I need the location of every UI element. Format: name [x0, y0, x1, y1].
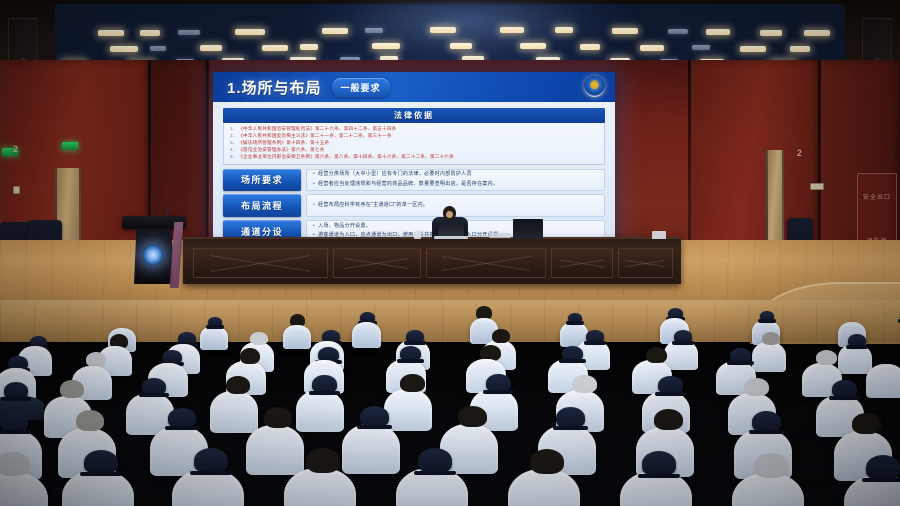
attendee-head [646, 347, 667, 363]
attendee-cap [0, 412, 28, 432]
seat [866, 364, 900, 398]
attendee-head [530, 449, 564, 474]
attendee-head [306, 448, 340, 473]
attendee-head [492, 329, 510, 343]
attendee-cap [730, 348, 751, 363]
attendee-cap [312, 375, 337, 393]
law-item: 1、《中华人民共和国治安管理处罚法》第二十六条、第四十二条、第五十四条 [230, 125, 598, 132]
desk-item-right [652, 231, 666, 239]
attendee-cap [568, 313, 582, 323]
table-panel [426, 248, 546, 278]
law-basis-heading: 法律依据 [223, 108, 605, 123]
law-basis-block: 法律依据 1、《中华人民共和国治安管理处罚法》第二十六条、第四十二条、第五十四条… [223, 108, 605, 165]
bullet: 经营者应当处理违规和与经营的商品品牌、数量要查明出店，是否存在案内。 [313, 181, 598, 189]
seat [352, 322, 381, 348]
seat [296, 390, 344, 432]
head-table [183, 237, 681, 284]
attendee-head [458, 406, 487, 427]
auditorium-scene: 2 2 安全出口 消防栓 1.场所与布局 一般要求 法律依据 1、《中华人民共和… [0, 0, 900, 506]
wall-plate-left [13, 186, 20, 194]
seat [246, 425, 304, 475]
attendee-cap [400, 346, 421, 361]
law-item: 3、《娱乐场所管理条例》第十四条、第十五条 [230, 139, 598, 146]
audience-area [0, 300, 900, 506]
slide-row-label-changsuoyaoqiu: 场所要求 [223, 169, 301, 192]
attendee-head [226, 376, 250, 394]
monitor [513, 219, 543, 239]
attendee-cap [562, 346, 583, 361]
seat [283, 325, 311, 349]
attendee-cap [360, 406, 389, 427]
attendee-head-cover [754, 453, 788, 478]
attendee-cap [586, 330, 604, 343]
slide-body: 法律依据 1、《中华人民共和国治安管理处罚法》第二十六条、第四十二条、第五十四条… [213, 102, 615, 244]
slide-row-body: 经营分类场所（大中小型）应有专门的法律，必要时内部防护人员 经营者应当处理违规和… [306, 169, 605, 192]
presenter-face [446, 211, 453, 218]
slide-badge: 一般要求 [332, 78, 390, 97]
attendee-cap [406, 330, 424, 343]
attendee-cap [4, 382, 28, 399]
table-panel [618, 248, 673, 278]
attendee-cap [752, 411, 781, 432]
attendee-cap [556, 407, 585, 428]
name-card [489, 233, 511, 238]
attendee-head [60, 380, 84, 398]
seat [210, 391, 258, 433]
table-panel [193, 248, 328, 278]
slide-title: 1.场所与布局 [227, 77, 322, 98]
presentation-slide: 1.场所与布局 一般要求 法律依据 1、《中华人民共和国治安管理处罚法》第二十六… [213, 72, 615, 244]
wall-plate-right [810, 183, 824, 190]
attendee-head [76, 410, 104, 431]
attendee-cap [418, 448, 452, 473]
attendee-cap [486, 374, 511, 392]
attendee-cap [84, 450, 118, 474]
wall-marking-left: 2 [13, 144, 18, 154]
attendee-cap [208, 317, 222, 327]
slide-row-label-bujuliucheng: 布局流程 [223, 194, 301, 217]
water-glass [414, 231, 421, 239]
attendee-cap [832, 380, 857, 398]
attendee-cap [168, 408, 196, 428]
attendee-head-cover [816, 350, 837, 365]
law-item: 4、《旅馆业治安管理办法》第六条、第七条 [230, 146, 598, 153]
attendee-head-cover [572, 375, 597, 393]
bullet: 经营分类场所（大中小型）应有专门的法律，必要时内部防护人员 [313, 171, 598, 179]
laptop-keyboard [434, 236, 468, 239]
attendee-head-cover [744, 378, 769, 396]
exit-sign-icon-left [62, 142, 78, 150]
seat [342, 424, 400, 474]
attendee-head-cover [86, 352, 106, 367]
attendee-cap [162, 350, 182, 364]
attendee-head [264, 407, 292, 428]
slide-row: 布局流程 经营布局应科学有序在"主通道口"的单一区内。 [223, 194, 605, 217]
attendee-cap [674, 330, 692, 343]
law-item: 2、《中华人民共和国反恐怖主义法》第二十一条、第二十二条、第三十一条 [230, 132, 598, 139]
attendee-cap [760, 311, 774, 321]
attendee-head [852, 413, 881, 434]
slide-row: 场所要求 经营分类场所（大中小型）应有专门的法律，必要时内部防护人员 经营者应当… [223, 169, 605, 192]
table-panel [333, 248, 421, 278]
attendee-cap [142, 378, 166, 395]
attendee-cap [658, 376, 683, 394]
law-basis-list: 1、《中华人民共和国治安管理处罚法》第二十六条、第四十二条、第五十四条 2、《中… [223, 123, 605, 165]
law-item: 5、《企业事业单位内部治安保卫条例》第六条、第八条、第十四条、第十六条、第二十二… [230, 153, 598, 160]
lectern-emblem-icon [143, 245, 163, 265]
bullet: 经营布局应科学有序在"主通道口"的单一区内。 [313, 202, 598, 210]
attendee-head [400, 374, 425, 392]
wall-marking-right: 2 [797, 148, 802, 158]
attendee-head [654, 409, 683, 430]
attendee-head [762, 332, 780, 345]
attendee-head-cover [0, 452, 30, 476]
seat [752, 342, 786, 372]
slide-header: 1.场所与布局 一般要求 [213, 72, 615, 102]
seat [200, 326, 228, 350]
attendee-cap [194, 448, 228, 473]
attendee-head-cover [250, 332, 268, 345]
projection-screen: 1.场所与布局 一般要求 法律依据 1、《中华人民共和国治安管理处罚法》第二十六… [213, 72, 615, 244]
attendee-cap [848, 334, 866, 347]
police-emblem-icon [584, 76, 605, 97]
attendee-head [240, 348, 260, 364]
table-panel [551, 248, 613, 278]
attendee-cap [642, 451, 676, 476]
attendee-cap [866, 455, 900, 480]
